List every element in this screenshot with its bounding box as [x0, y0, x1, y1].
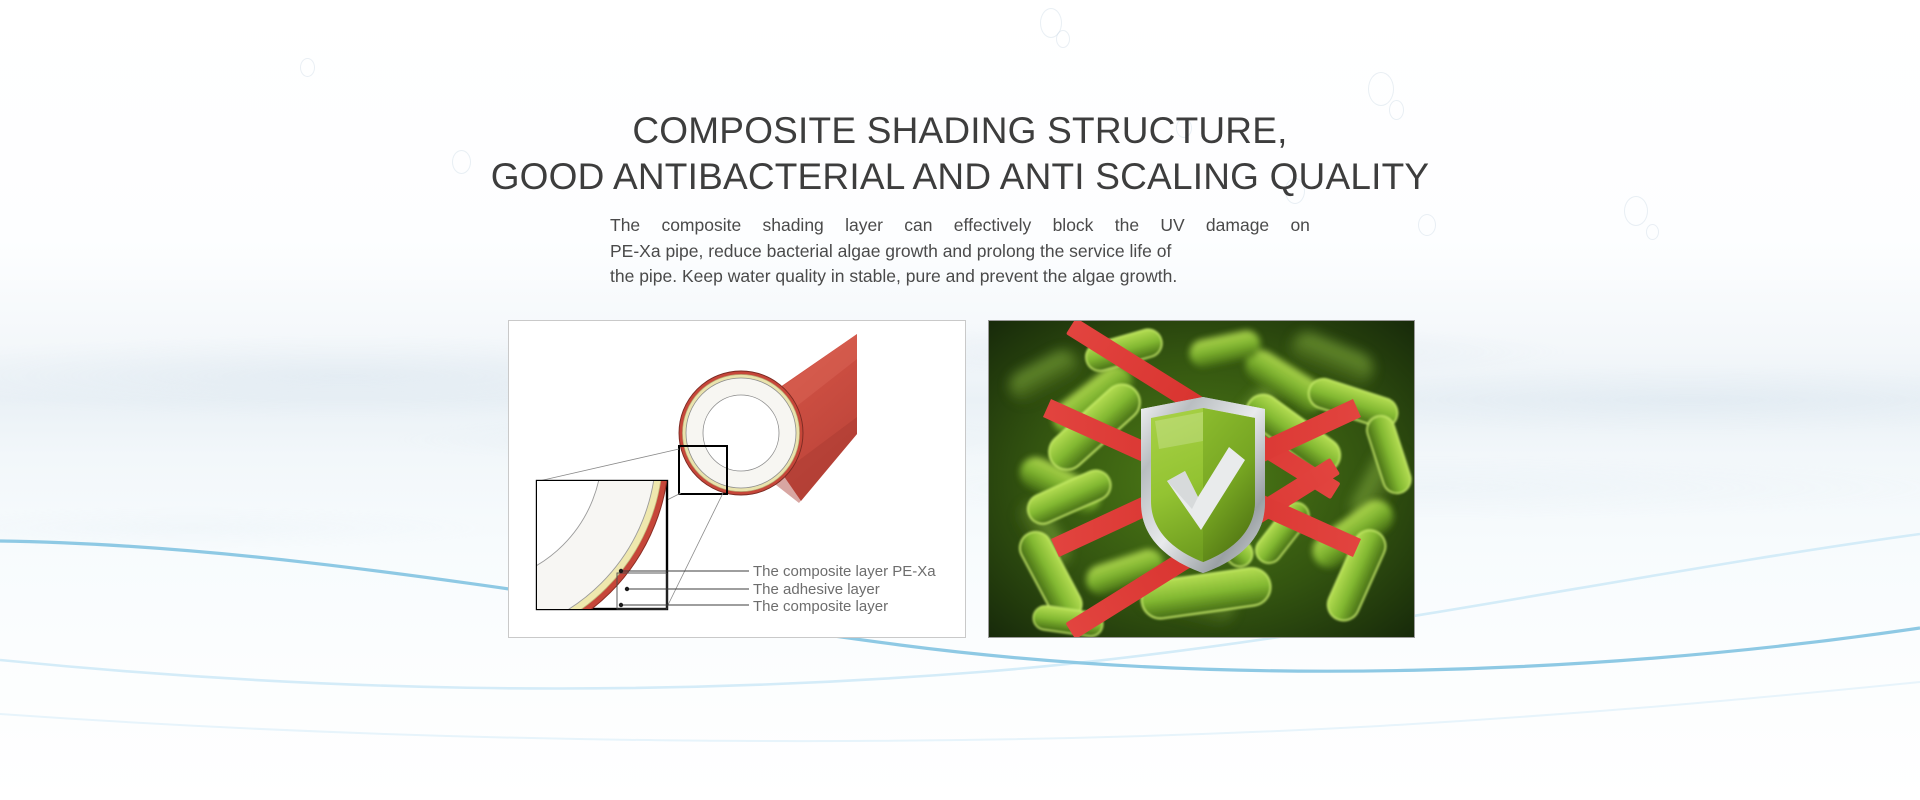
pipe-structure-diagram-panel: The composite layer PE-Xa The adhesive l…: [508, 320, 966, 638]
diagram-magnified-callout: [509, 321, 669, 637]
intro-line-1: The composite shading layer can effectiv…: [610, 213, 1310, 239]
diagram-label-adhesive: The adhesive layer: [753, 581, 880, 598]
headline-line-2: GOOD ANTIBACTERIAL AND ANTI SCALING QUAL…: [0, 154, 1920, 200]
intro-word: block: [1053, 213, 1094, 239]
headline-line-1: COMPOSITE SHADING STRUCTURE,: [0, 108, 1920, 154]
diagram-label-composite: The composite layer: [753, 598, 888, 615]
intro-line-3: the pipe. Keep water quality in stable, …: [610, 264, 1310, 290]
intro-word: effectively: [954, 213, 1032, 239]
intro-line-2: PE-Xa pipe, reduce bacterial algae growt…: [610, 239, 1310, 265]
intro-word: shading: [762, 213, 823, 239]
shield-overlay: [1141, 397, 1265, 573]
page-title: COMPOSITE SHADING STRUCTURE, GOOD ANTIBA…: [0, 108, 1920, 200]
intro-word: UV: [1160, 213, 1184, 239]
intro-word: The: [610, 213, 640, 239]
intro-paragraph: The composite shading layer can effectiv…: [610, 213, 1310, 290]
intro-word: on: [1290, 213, 1309, 239]
intro-word: composite: [661, 213, 741, 239]
pipe-diagram: The composite layer PE-Xa The adhesive l…: [509, 321, 965, 637]
pipe-cross-section: [679, 371, 803, 495]
bacteria-shield-image: [989, 321, 1414, 637]
antibacterial-image-panel: [988, 320, 1415, 638]
intro-word: damage: [1206, 213, 1269, 239]
diagram-label-composite-pexa: The composite layer PE-Xa: [753, 563, 936, 580]
intro-word: the: [1115, 213, 1139, 239]
wave-line-faint: [0, 682, 1920, 741]
intro-word: can: [904, 213, 932, 239]
intro-word: layer: [845, 213, 883, 239]
